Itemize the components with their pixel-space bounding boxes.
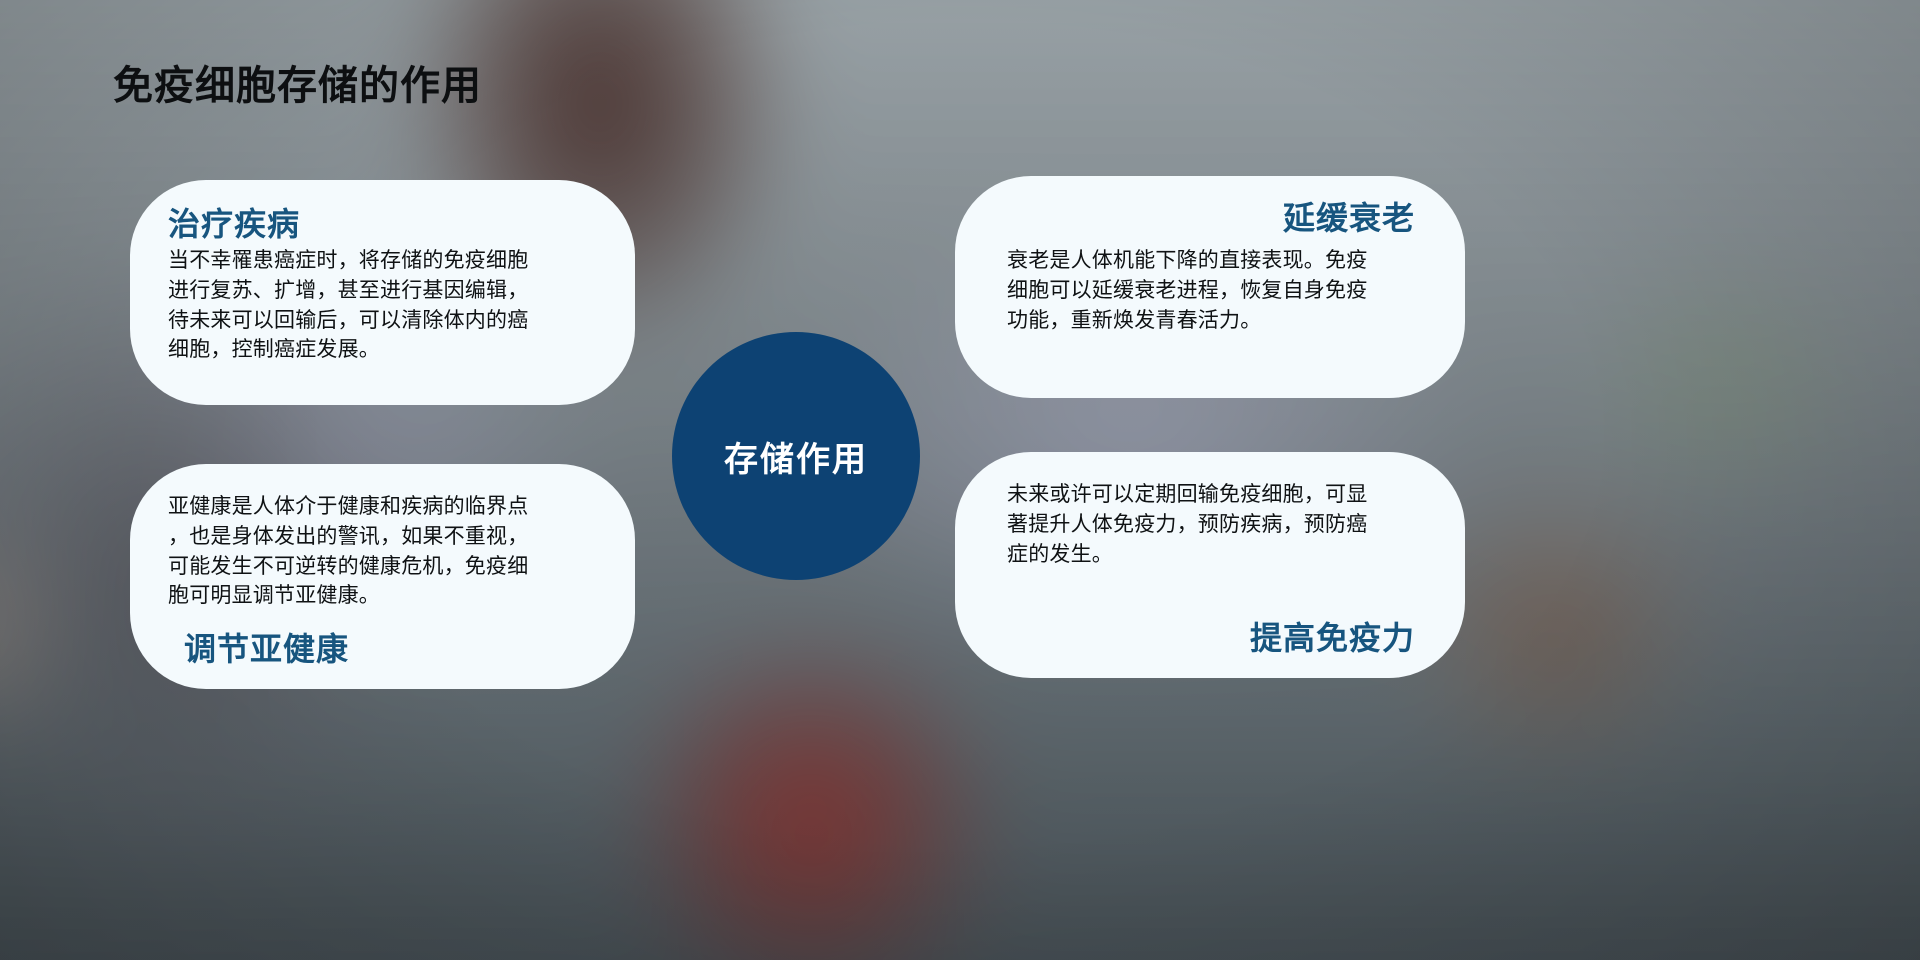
- card-delay-aging-body: 衰老是人体机能下降的直接表现。免疫 细胞可以延缓衰老进程，恢复自身免疫 功能，重…: [1007, 246, 1367, 335]
- card-regulate-subhealth-title: 调节亚健康: [184, 629, 349, 669]
- card-boost-immunity-title: 提高免疫力: [1250, 618, 1415, 658]
- card-treat-disease-body: 当不幸罹患癌症时，将存储的免疫细胞 进行复苏、扩增，甚至进行基因编辑， 待未来可…: [168, 246, 528, 365]
- card-boost-immunity-body: 未来或许可以定期回输免疫细胞，可显 著提升人体免疫力，预防疾病，预防癌 症的发生…: [1007, 480, 1367, 569]
- card-regulate-subhealth[interactable]: 亚健康是人体介于健康和疾病的临界点 ，也是身体发出的警讯，如果不重视， 可能发生…: [130, 464, 635, 689]
- slide-canvas: 免疫细胞存储的作用 存储作用 治疗疾病 当不幸罹患癌症时，将存储的免疫细胞 进行…: [0, 0, 1920, 960]
- card-delay-aging[interactable]: 延缓衰老 衰老是人体机能下降的直接表现。免疫 细胞可以延缓衰老进程，恢复自身免疫…: [955, 176, 1465, 398]
- center-hub-circle: 存储作用: [672, 332, 920, 580]
- card-treat-disease[interactable]: 治疗疾病 当不幸罹患癌症时，将存储的免疫细胞 进行复苏、扩增，甚至进行基因编辑，…: [130, 180, 635, 405]
- card-delay-aging-title: 延缓衰老: [1283, 198, 1415, 238]
- center-hub-label: 存储作用: [724, 432, 868, 481]
- card-boost-immunity[interactable]: 未来或许可以定期回输免疫细胞，可显 著提升人体免疫力，预防疾病，预防癌 症的发生…: [955, 452, 1465, 678]
- card-treat-disease-title: 治疗疾病: [168, 204, 300, 244]
- page-title: 免疫细胞存储的作用: [113, 62, 482, 110]
- card-regulate-subhealth-body: 亚健康是人体介于健康和疾病的临界点 ，也是身体发出的警讯，如果不重视， 可能发生…: [168, 492, 528, 611]
